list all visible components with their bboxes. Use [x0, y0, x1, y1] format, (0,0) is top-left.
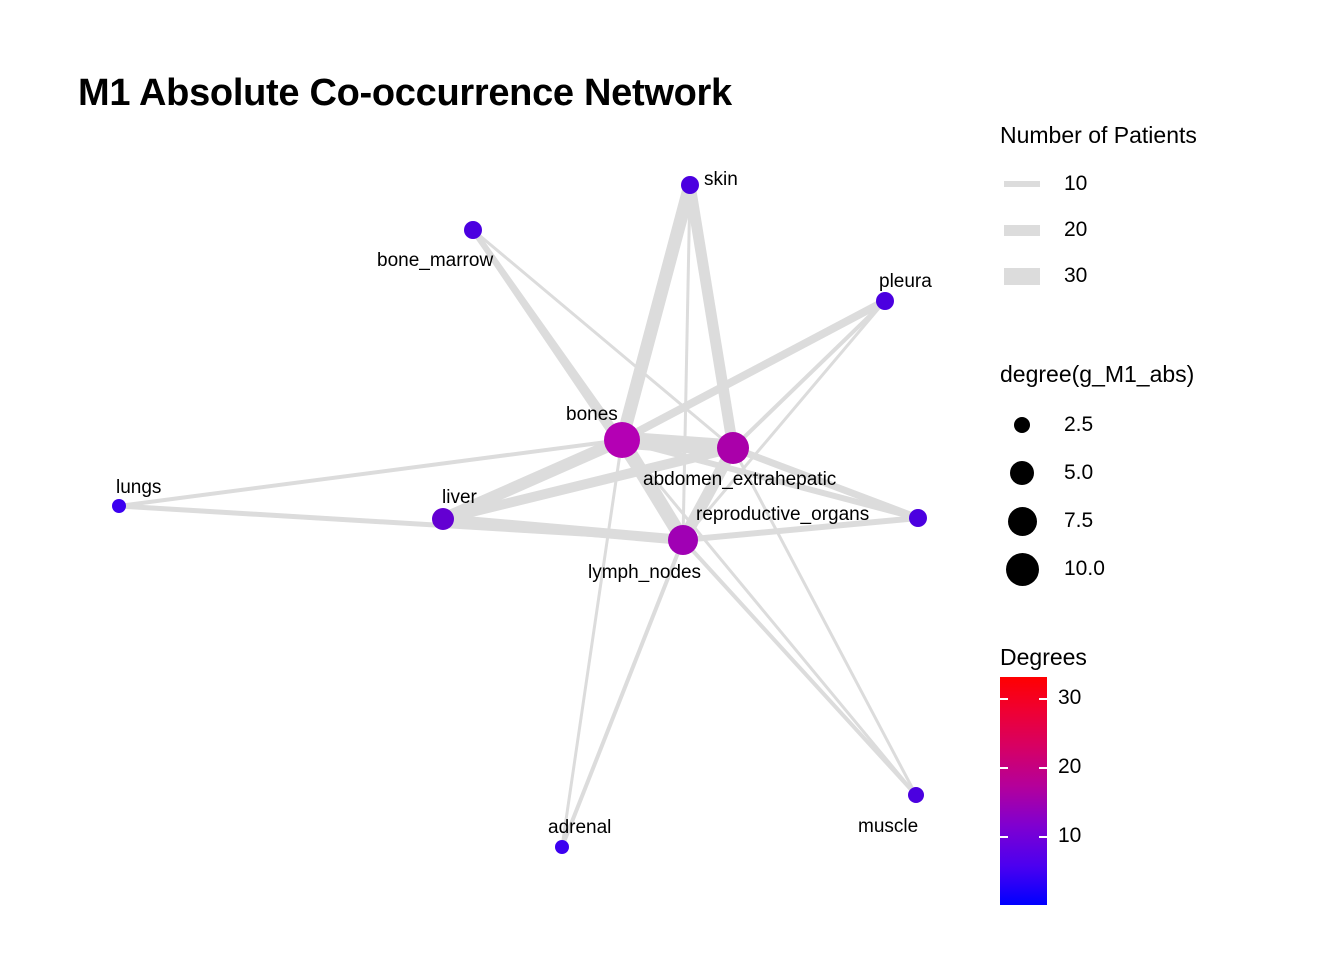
edge-width-legend-row[interactable]: 20 [1000, 208, 1087, 252]
network-edge[interactable] [683, 540, 916, 795]
node-label: muscle [858, 817, 918, 836]
node-size-dot [1010, 461, 1034, 485]
colorbar-tick-mark [1039, 767, 1047, 769]
network-node[interactable] [112, 499, 126, 513]
node-label: reproductive_organs [696, 505, 869, 524]
node-label: lymph_nodes [588, 563, 701, 582]
edge-width-legend-row[interactable]: 30 [1000, 254, 1087, 298]
node-size-legend-label: 2.5 [1064, 413, 1093, 437]
colorbar-tick-label: 30 [1058, 686, 1081, 710]
node-label: skin [704, 170, 738, 189]
network-edge[interactable] [562, 440, 622, 847]
node-label: bone_marrow [377, 251, 493, 270]
network-node[interactable] [464, 221, 482, 239]
node-size-legend-title: degree(g_M1_abs) [1000, 361, 1194, 388]
network-edge[interactable] [119, 506, 683, 540]
edge-width-swatch [1000, 162, 1044, 206]
edge-swatch-bar [1004, 268, 1040, 285]
network-edge[interactable] [562, 540, 683, 847]
node-size-legend-row[interactable]: 2.5 [1000, 403, 1093, 447]
node-size-swatch [1000, 403, 1044, 447]
network-node[interactable] [432, 508, 454, 530]
edge-swatch-bar [1004, 181, 1040, 187]
network-edge[interactable] [690, 185, 733, 448]
node-size-legend-row[interactable]: 10.0 [1000, 547, 1105, 591]
network-node[interactable] [604, 422, 640, 458]
network-node[interactable] [909, 509, 927, 527]
network-edge[interactable] [622, 440, 916, 795]
network-node[interactable] [908, 787, 924, 803]
node-size-swatch [1000, 451, 1044, 495]
edge-width-legend-label: 30 [1064, 264, 1087, 288]
node-size-dot [1006, 553, 1039, 586]
edge-width-legend-row[interactable]: 10 [1000, 162, 1087, 206]
network-node[interactable] [555, 840, 569, 854]
colorbar-tick-mark [1000, 767, 1008, 769]
node-size-swatch [1000, 499, 1044, 543]
node-label: pleura [879, 272, 932, 291]
edge-width-swatch [1000, 254, 1044, 298]
network-node[interactable] [717, 432, 749, 464]
node-label: abdomen_extrahepatic [643, 470, 836, 489]
node-label: bones [566, 405, 618, 424]
colorbar-tick-mark [1039, 698, 1047, 700]
edge-width-legend-label: 10 [1064, 172, 1087, 196]
colorbar-tick-label: 20 [1058, 755, 1081, 779]
network-edge[interactable] [733, 301, 885, 448]
colorbar-tick-mark [1039, 836, 1047, 838]
node-label: adrenal [548, 818, 611, 837]
network-edge[interactable] [622, 301, 885, 440]
network-graph-panel: skinbone_marrowpleurabonesabdomen_extrah… [0, 0, 980, 960]
network-node[interactable] [876, 292, 894, 310]
node-size-legend-label: 5.0 [1064, 461, 1093, 485]
edge-width-legend-title: Number of Patients [1000, 122, 1197, 149]
color-legend: 302010 [1000, 677, 1047, 905]
node-size-legend-label: 10.0 [1064, 557, 1105, 581]
node-size-swatch [1000, 547, 1044, 591]
node-label: liver [442, 488, 477, 507]
node-size-dot [1008, 507, 1037, 536]
legend-column: Number of Patients 102030 degree(g_M1_ab… [996, 0, 1344, 960]
color-legend-title: Degrees [1000, 644, 1087, 671]
node-size-legend-row[interactable]: 7.5 [1000, 499, 1093, 543]
node-size-legend-row[interactable]: 5.0 [1000, 451, 1093, 495]
node-label: lungs [116, 478, 161, 497]
network-node[interactable] [681, 176, 699, 194]
network-edge[interactable] [733, 448, 916, 795]
edge-width-legend-label: 20 [1064, 218, 1087, 242]
colorbar-tick-mark [1000, 698, 1008, 700]
edge-width-swatch [1000, 208, 1044, 252]
network-node[interactable] [668, 525, 698, 555]
node-size-dot [1014, 417, 1030, 433]
colorbar-gradient[interactable] [1000, 677, 1047, 905]
colorbar-tick-mark [1000, 836, 1008, 838]
edge-swatch-bar [1004, 225, 1040, 236]
network-plot-page: M1 Absolute Co-occurrence Network skinbo… [0, 0, 1344, 960]
node-size-legend-label: 7.5 [1064, 509, 1093, 533]
colorbar-tick-label: 10 [1058, 824, 1081, 848]
